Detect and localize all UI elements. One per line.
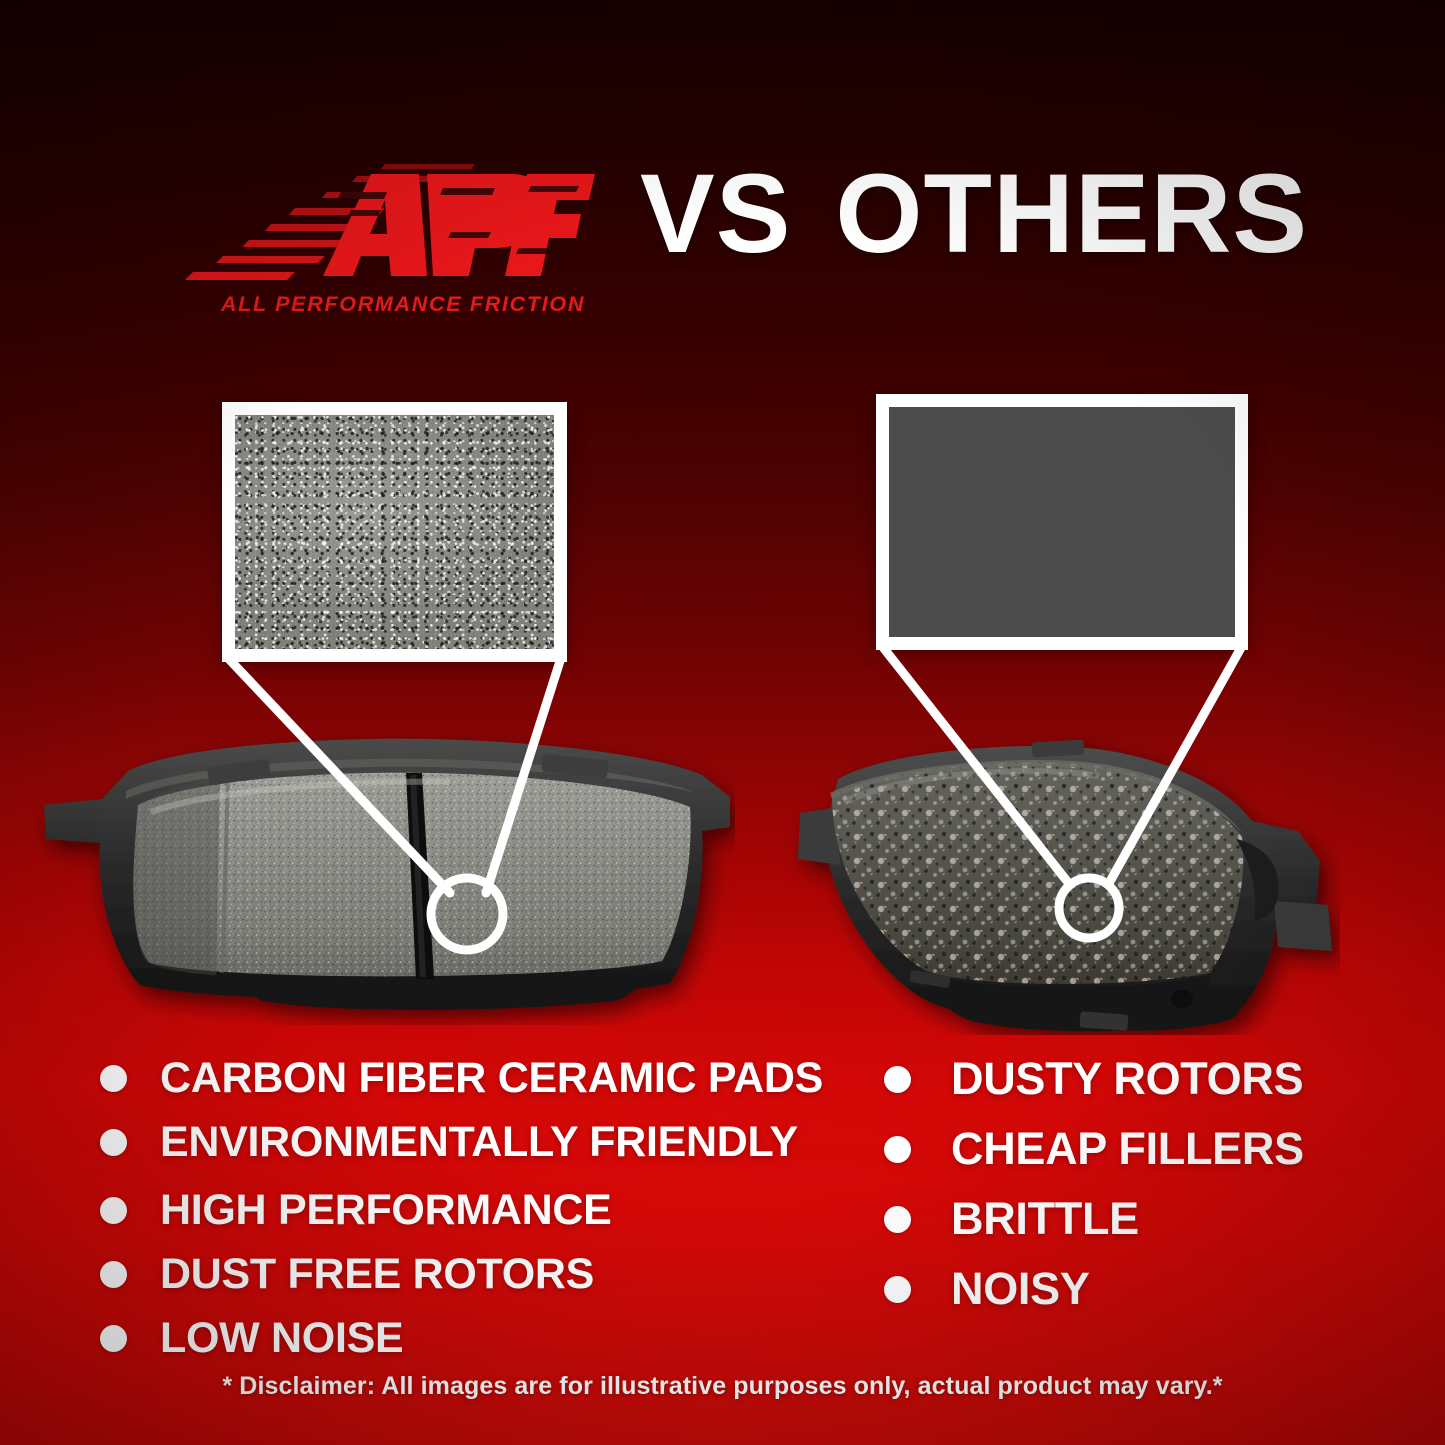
list-item: DUST FREE ROTORS: [100, 1251, 820, 1297]
apf-logo-tagline: ALL PERFORMANCE FRICTION: [208, 292, 598, 317]
bullet-icon: [884, 1206, 911, 1233]
list-item: ENVIRONMENTALLY FRIENDLY: [100, 1119, 820, 1165]
bullet-icon: [884, 1136, 911, 1163]
apf-logo: ALL PERFORMANCE FRICTION: [175, 152, 595, 342]
bullet-icon: [100, 1261, 127, 1288]
list-item: HIGH PERFORMANCE: [100, 1187, 820, 1233]
list-item: CARBON FIBER CERAMIC PADS: [100, 1055, 820, 1101]
apf-logo-mark: [175, 152, 595, 297]
promo-graphic: ALL PERFORMANCE FRICTION VSOTHERS: [0, 0, 1445, 1445]
list-item: NOISY: [884, 1265, 1344, 1313]
list-item: BRITTLE: [884, 1195, 1344, 1243]
title-others: OTHERS: [835, 151, 1308, 276]
feature-list-others: DUSTY ROTORS CHEAP FILLERS BRITTLE NOISY: [884, 1055, 1344, 1335]
feature-label: CARBON FIBER CERAMIC PADS: [160, 1055, 823, 1101]
apf-pad-svg: [30, 735, 735, 1025]
title-vs: VS: [640, 151, 791, 276]
competitor-brake-pad-image: [780, 735, 1340, 1035]
feature-label: BRITTLE: [951, 1195, 1139, 1243]
bullet-icon: [100, 1197, 127, 1224]
feature-label: HIGH PERFORMANCE: [160, 1187, 612, 1233]
page-title: VSOTHERS: [640, 155, 1360, 275]
competitor-pad-svg: [780, 735, 1340, 1035]
feature-list-apf: CARBON FIBER CERAMIC PADS ENVIRONMENTALL…: [100, 1055, 820, 1379]
disclaimer-text: * Disclaimer: All images are for illustr…: [0, 1372, 1445, 1401]
feature-label: ENVIRONMENTALLY FRIENDLY: [160, 1119, 798, 1165]
magnified-inset-others: [876, 394, 1248, 650]
list-item: CHEAP FILLERS: [884, 1125, 1344, 1173]
apf-brake-pad-image: [30, 735, 735, 1025]
list-item: DUSTY ROTORS: [884, 1055, 1344, 1103]
bullet-icon: [100, 1129, 127, 1156]
feature-label: LOW NOISE: [160, 1315, 403, 1361]
texture-others-coarse-filler: [889, 407, 1235, 637]
bullet-icon: [884, 1066, 911, 1093]
texture-apf-fine-ceramic: [235, 415, 554, 649]
feature-label: NOISY: [951, 1265, 1090, 1313]
feature-label: CHEAP FILLERS: [951, 1125, 1304, 1173]
bullet-icon: [100, 1325, 127, 1352]
magnified-inset-apf: [222, 402, 567, 662]
feature-label: DUST FREE ROTORS: [160, 1251, 594, 1297]
bullet-icon: [884, 1276, 911, 1303]
list-item: LOW NOISE: [100, 1315, 820, 1361]
feature-label: DUSTY ROTORS: [951, 1055, 1303, 1103]
bullet-icon: [100, 1065, 127, 1092]
header: ALL PERFORMANCE FRICTION VSOTHERS: [0, 140, 1445, 340]
